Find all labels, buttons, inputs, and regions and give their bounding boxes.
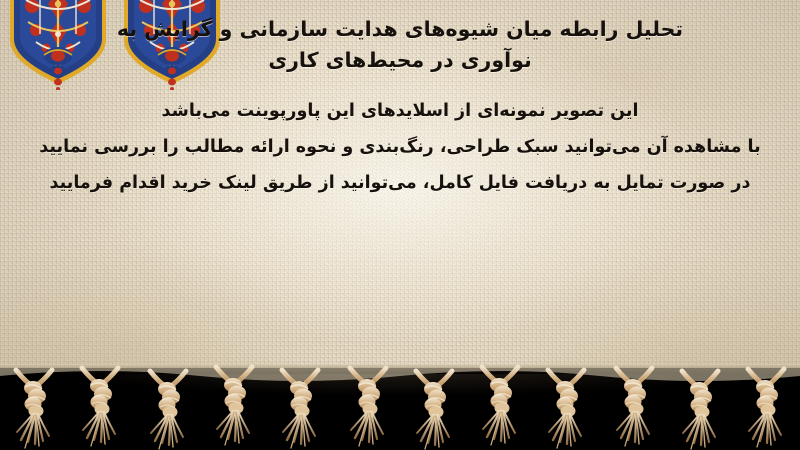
- band-top-edge: [0, 364, 800, 374]
- bottom-black-band: [0, 368, 800, 450]
- body-line-2: با مشاهده آن می‌توانید سبک طراحی، رنگ‌بن…: [24, 134, 776, 161]
- slide-title-line-1: تحلیل رابطه میان شیوه‌های هدایت سازمانی …: [24, 14, 776, 45]
- body-line-3: در صورت تمایل به دریافت فایل کامل، می‌تو…: [24, 170, 776, 197]
- slide-title-line-2: نوآوری در محیط‌های کاری: [24, 45, 776, 76]
- body-line-1: این تصویر نمونه‌ای از اسلایدهای این پاور…: [24, 98, 776, 125]
- slide-title: تحلیل رابطه میان شیوه‌های هدایت سازمانی …: [24, 14, 776, 76]
- presentation-slide: تحلیل رابطه میان شیوه‌های هدایت سازمانی …: [0, 0, 800, 450]
- slide-content: تحلیل رابطه میان شیوه‌های هدایت سازمانی …: [0, 0, 800, 196]
- slide-body: این تصویر نمونه‌ای از اسلایدهای این پاور…: [24, 98, 776, 196]
